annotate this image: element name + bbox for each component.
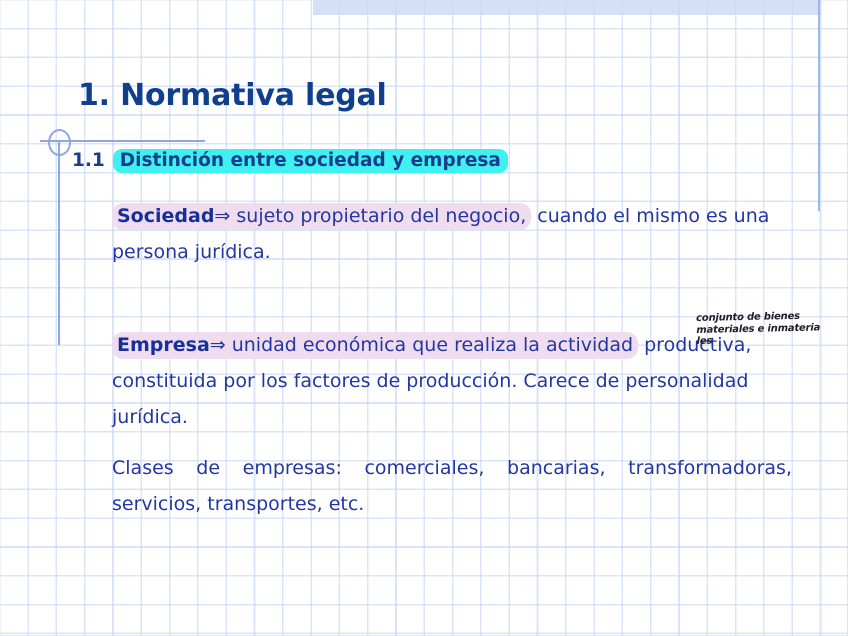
arrow-glyph-icon: ⇒	[214, 205, 230, 227]
slide-content: 1. Normativa legal 1.1Distinción entre s…	[0, 0, 848, 636]
section-number: 1.1	[72, 150, 105, 171]
paragraph-sociedad: Sociedad⇒ sujeto propietario del negocio…	[112, 198, 794, 270]
section-heading: 1.1Distinción entre sociedad y empresa	[72, 150, 508, 171]
term-sociedad: Sociedad	[117, 205, 214, 227]
paragraph-empresa: Empresa⇒ unidad económica que realiza la…	[112, 327, 794, 435]
slide-canvas: 1. Normativa legal 1.1Distinción entre s…	[0, 0, 848, 636]
sociedad-highlight-group: Sociedad⇒ sujeto propietario del negocio…	[112, 203, 531, 230]
empresa-highlight-group: Empresa⇒ unidad económica que realiza la…	[112, 332, 638, 359]
empresa-highlighted-text: unidad económica que realiza la activida…	[226, 334, 633, 356]
arrow-glyph-icon: ⇒	[210, 334, 226, 356]
page-title: 1. Normativa legal	[78, 78, 387, 113]
section-heading-text: Distinción entre sociedad y empresa	[113, 149, 508, 173]
paragraph-clases: Clases de empresas: comerciales, bancari…	[112, 450, 792, 522]
sociedad-highlighted-text: sujeto propietario del negocio,	[230, 205, 526, 227]
handwritten-annotation: conjunto de bienes materiales e inmateri…	[696, 310, 848, 348]
term-empresa: Empresa	[117, 334, 210, 356]
